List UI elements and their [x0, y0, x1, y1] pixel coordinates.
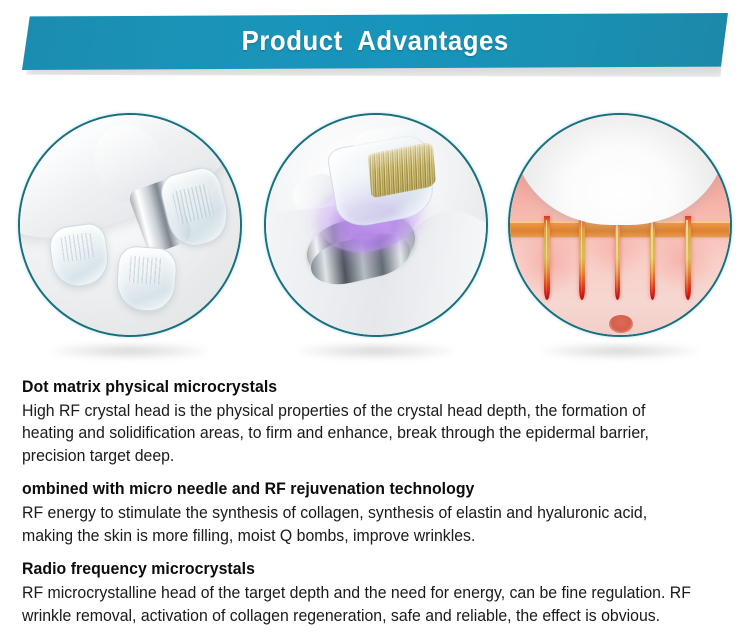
rf-needle	[544, 216, 550, 300]
advantages-description-list: Dot matrix physical microcrystals High R…	[22, 378, 728, 627]
product-image-gallery	[0, 110, 750, 360]
circle-drop-shadow	[298, 343, 454, 359]
circle-frame	[18, 113, 242, 337]
advantage-body: RF energy to stimulate the synthesis of …	[22, 502, 700, 547]
rf-needle	[650, 216, 656, 300]
advantage-block-1: Dot matrix physical microcrystals High R…	[22, 378, 728, 467]
advantage-block-3: Radio frequency microcrystals RF microcr…	[22, 560, 728, 627]
photo-microneedle-cartridge-closeup	[266, 115, 486, 335]
advantage-block-2: ombined with micro needle and RF rejuven…	[22, 480, 728, 547]
advantage-heading: ombined with micro needle and RF rejuven…	[22, 480, 700, 499]
advantage-body: RF microcrystalline head of the target d…	[22, 582, 700, 627]
rf-needle	[685, 216, 691, 300]
diagram-skin-penetration	[510, 115, 730, 335]
gallery-item-microneedle-cartridge-closeup	[264, 113, 488, 337]
page-header-banner: Product Advantages	[0, 13, 750, 75]
gallery-item-skin-penetration-diagram	[508, 113, 732, 337]
circle-drop-shadow	[542, 343, 698, 359]
advantage-heading: Radio frequency microcrystals	[22, 560, 700, 579]
advantage-body: High RF crystal head is the physical pro…	[22, 400, 700, 467]
circle-drop-shadow	[52, 343, 208, 359]
circle-frame	[264, 113, 488, 337]
rf-needle	[615, 216, 621, 300]
page-title: Product Advantages	[241, 25, 508, 57]
gallery-item-handpiece-with-crystal-tips	[18, 113, 242, 337]
rf-needle	[579, 216, 585, 300]
photo-handpiece-with-crystal-tips	[20, 115, 240, 335]
dermis-nodule	[609, 315, 633, 333]
circle-frame	[508, 113, 732, 337]
advantage-heading: Dot matrix physical microcrystals	[22, 378, 700, 397]
banner-ribbon: Product Advantages	[22, 13, 728, 70]
